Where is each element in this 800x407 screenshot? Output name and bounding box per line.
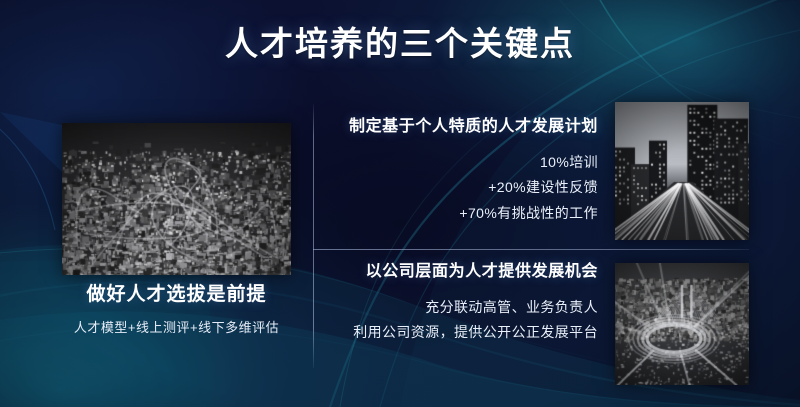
right-bottom-heading: 以公司层面为人才提供发展机会 <box>330 261 598 283</box>
right-bottom-lines: 充分联动高管、业务负责人 利用公司资源，提供公开公正发展平台 <box>330 295 598 347</box>
horizontal-divider <box>313 249 749 250</box>
right-top-line-3: +70%有挑战性的工作 <box>330 201 598 227</box>
presentation-slide: 人才培养的三个关键点 做好人才选拔是前提 人才模型+线上测评+线下多维评估 制定… <box>0 0 800 407</box>
downtown-street-light-trails-photo <box>615 102 749 240</box>
aerial-night-city-photo <box>62 123 291 275</box>
page-title: 人才培养的三个关键点 <box>0 23 800 64</box>
right-bottom-line-1: 充分联动高管、业务负责人 <box>330 295 598 321</box>
right-top-line-1: 10%培训 <box>330 150 598 176</box>
circular-highway-interchange-photo <box>615 263 749 385</box>
right-block-top: 制定基于个人特质的人才发展计划 10%培训 +20%建设性反馈 +70%有挑战性… <box>330 116 598 227</box>
left-caption-block: 做好人才选拔是前提 人才模型+线上测评+线下多维评估 <box>62 283 291 337</box>
right-top-lines: 10%培训 +20%建设性反馈 +70%有挑战性的工作 <box>330 150 598 228</box>
left-subtitle: 人才模型+线上测评+线下多维评估 <box>62 319 291 337</box>
right-top-heading: 制定基于个人特质的人才发展计划 <box>330 116 598 138</box>
vertical-divider <box>313 104 314 368</box>
right-block-bottom: 以公司层面为人才提供发展机会 充分联动高管、业务负责人 利用公司资源，提供公开公… <box>330 261 598 346</box>
right-bottom-line-2: 利用公司资源，提供公开公正发展平台 <box>330 320 598 346</box>
left-heading: 做好人才选拔是前提 <box>62 283 291 308</box>
right-top-line-2: +20%建设性反馈 <box>330 175 598 201</box>
